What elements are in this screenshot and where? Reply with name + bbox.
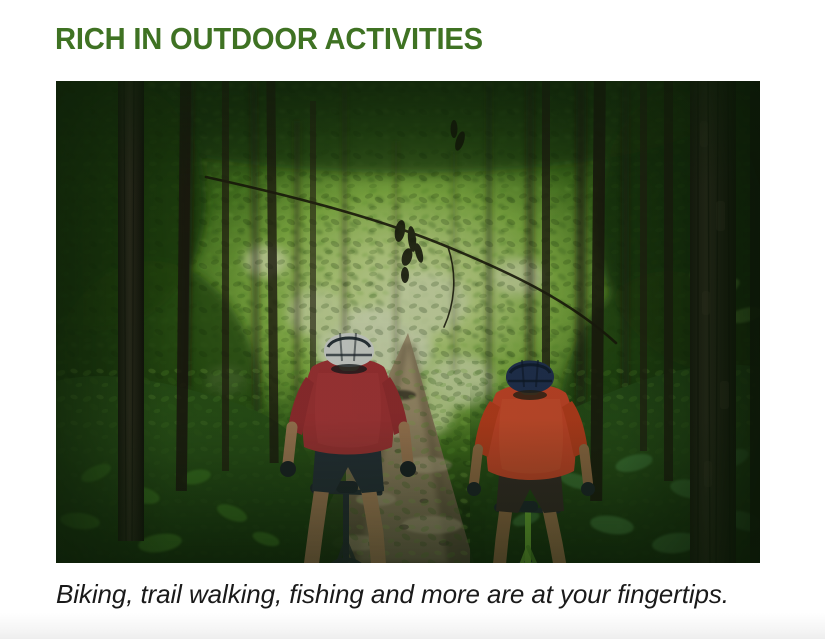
outdoor-activities-section: RICH IN OUTDOOR ACTIVITIES — [0, 0, 825, 639]
page-title: RICH IN OUTDOOR ACTIVITIES — [55, 22, 483, 56]
photo-caption: Biking, trail walking, fishing and more … — [56, 578, 776, 610]
page-bottom-fade — [0, 613, 825, 639]
forest-trail-illustration — [56, 81, 760, 563]
outdoor-activities-photo — [56, 81, 760, 563]
